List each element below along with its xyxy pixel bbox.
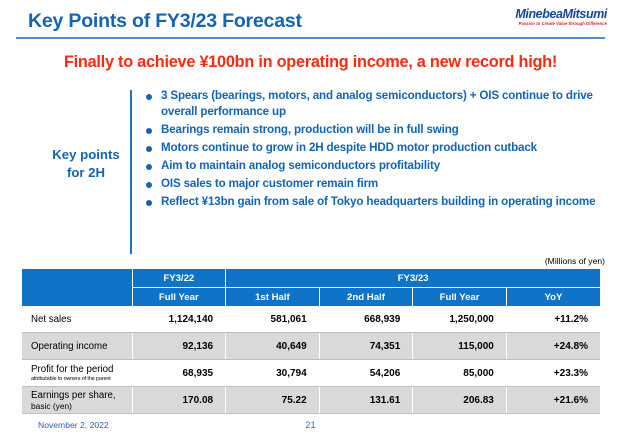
table-subheader-fy23-full-year: Full Year [413, 288, 507, 307]
table-row: Operating income 92,136 40,649 74,351 11… [22, 333, 600, 360]
row-label-text: Net sales [31, 314, 71, 325]
bullet-item: Reflect ¥13bn gain from sale of Tokyo he… [144, 194, 614, 210]
cell-value: +21.6% [506, 387, 600, 414]
table-row: Profit for the period attributable to ow… [22, 360, 600, 387]
cell-value: 75.22 [226, 387, 320, 414]
cell-value: +11.2% [506, 306, 600, 333]
row-label-profit-for-the-period: Profit for the period attributable to ow… [22, 360, 132, 387]
cell-value: 54,206 [319, 360, 413, 387]
bullet-text: OIS sales to major customer remain firm [161, 177, 378, 190]
row-label-text: Earnings per share, [31, 390, 116, 401]
cell-value: 206.83 [413, 387, 507, 414]
bullet-item: Bearings remain strong, production will … [144, 122, 614, 138]
bullet-dot-icon [146, 200, 152, 206]
table-group-header-fy23: FY3/23 [226, 269, 600, 288]
key-points-bullet-list: 3 Spears (bearings, motors, and analog s… [144, 88, 614, 212]
units-note: (Millions of yen) [545, 256, 605, 266]
headline-statement: Finally to achieve ¥100bn in operating i… [0, 53, 621, 72]
table-group-header-fy22: FY3/22 [132, 269, 226, 288]
bullet-dot-icon [146, 94, 152, 100]
key-points-label-line1: Key points [34, 146, 138, 164]
bullet-text: 3 Spears (bearings, motors, and analog s… [161, 89, 593, 118]
table-row-separator [22, 413, 600, 414]
table-subheader-fy22-full-year: Full Year [132, 288, 226, 307]
cell-value: 581,061 [226, 306, 320, 333]
row-label-net-sales: Net sales [22, 306, 132, 333]
table-body: Net sales 1,124,140 581,061 668,939 1,25… [22, 306, 600, 414]
cell-value: 30,794 [226, 360, 320, 387]
cell-value: 92,136 [132, 333, 226, 360]
cell-value: 668,939 [319, 306, 413, 333]
cell-value: 115,000 [413, 333, 507, 360]
cell-value: 85,000 [413, 360, 507, 387]
page-title: Key Points of FY3/23 Forecast [28, 10, 302, 33]
table-row-separator [22, 359, 600, 360]
table-subheader-yoy: YoY [506, 288, 600, 307]
bullet-text: Reflect ¥13bn gain from sale of Tokyo he… [161, 195, 595, 208]
table-corner-cell [22, 269, 132, 306]
bullet-item: Aim to maintain analog semiconductors pr… [144, 158, 614, 174]
bullet-item: OIS sales to major customer remain firm [144, 176, 614, 192]
brand-name: MinebeaMitsumi [515, 8, 607, 21]
row-label-text: Operating income [31, 341, 107, 352]
title-underline-rule [16, 37, 605, 39]
bullet-text: Bearings remain strong, production will … [161, 123, 459, 136]
row-label-subtext: attributable to owners of the parent [31, 376, 132, 383]
row-label-operating-income: Operating income [22, 333, 132, 360]
cell-value: 40,649 [226, 333, 320, 360]
cell-value: 1,250,000 [413, 306, 507, 333]
row-label-text: Profit for the period [31, 364, 113, 375]
bullet-text: Aim to maintain analog semiconductors pr… [161, 159, 440, 172]
key-points-label-line2: for 2H [34, 164, 138, 182]
financial-summary-table: FY3/22 FY3/23 Full Year 1st Half 2nd Hal… [22, 269, 600, 414]
cell-value: +24.8% [506, 333, 600, 360]
brand-tagline: Passion to Create Value through Differen… [515, 22, 607, 26]
bullet-text: Motors continue to grow in 2H despite HD… [161, 141, 537, 154]
table-header: FY3/22 FY3/23 Full Year 1st Half 2nd Hal… [22, 269, 600, 306]
cell-value: 170.08 [132, 387, 226, 414]
bullet-dot-icon [146, 182, 152, 188]
table-row: Earnings per share, basic (yen) 170.08 7… [22, 387, 600, 414]
bullet-item: Motors continue to grow in 2H despite HD… [144, 140, 614, 156]
cell-value: 74,351 [319, 333, 413, 360]
table-row-separator [22, 332, 600, 333]
key-points-block: Key points for 2H 3 Spears (bearings, mo… [14, 88, 614, 256]
table-subheader-1st-half: 1st Half [226, 288, 320, 307]
bullet-item: 3 Spears (bearings, motors, and analog s… [144, 88, 614, 121]
bullet-dot-icon [146, 164, 152, 170]
table-subheader-2nd-half: 2nd Half [319, 288, 413, 307]
cell-value: 131.61 [319, 387, 413, 414]
table-row-separator [22, 386, 600, 387]
row-label-earnings-per-share: Earnings per share, basic (yen) [22, 387, 132, 414]
footer-page-number: 21 [0, 419, 621, 430]
table-row: Net sales 1,124,140 581,061 668,939 1,25… [22, 306, 600, 333]
key-points-vertical-divider [130, 90, 132, 254]
row-label-unit: basic (yen) [31, 401, 132, 411]
cell-value: 1,124,140 [132, 306, 226, 333]
cell-value: 68,935 [132, 360, 226, 387]
key-points-label: Key points for 2H [34, 146, 138, 182]
table-header-group-row: FY3/22 FY3/23 [22, 269, 600, 288]
slide-header: Key Points of FY3/23 Forecast MinebeaMit… [0, 0, 621, 42]
bullet-dot-icon [146, 146, 152, 152]
cell-value: +23.3% [506, 360, 600, 387]
minebeamitsumi-logo: MinebeaMitsumi Passion to Create Value t… [515, 8, 607, 26]
bullet-dot-icon [146, 128, 152, 134]
